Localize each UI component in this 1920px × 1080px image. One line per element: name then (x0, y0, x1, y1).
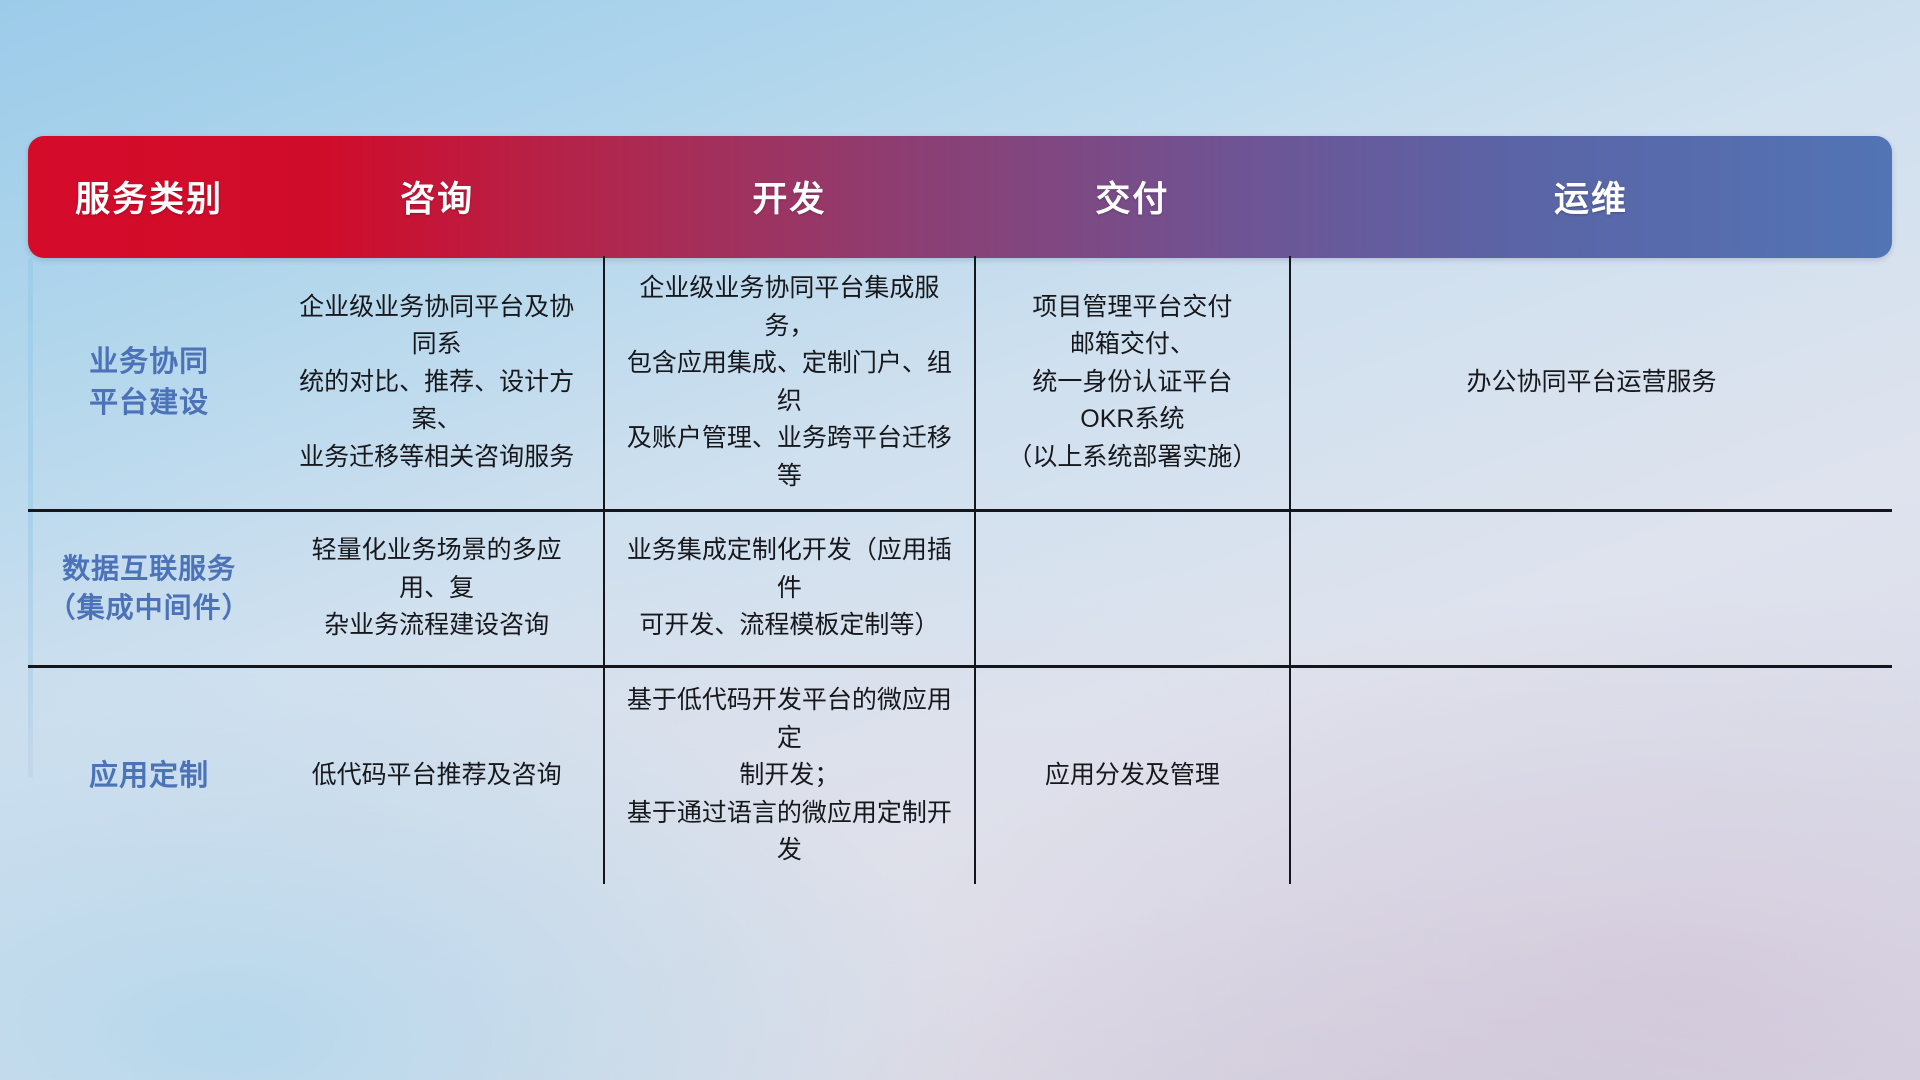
cell-text-line: 及账户管理、业务跨平台迁移等 (623, 420, 956, 495)
row-label-line: 平台建设 (46, 383, 252, 423)
cell-text-line: 包含应用集成、定制门户、组织 (623, 345, 956, 420)
column-header-development[interactable]: 开发 (604, 136, 975, 256)
table-body: 业务协同 平台建设 企业级业务协同平台及协同系 统的对比、推荐、设计方案、 业务… (28, 256, 1892, 884)
cell-text-line: 办公协同平台运营服务 (1309, 364, 1874, 402)
column-header-delivery[interactable]: 交付 (975, 136, 1290, 256)
cell-row2-delivery (975, 511, 1290, 667)
cell-row1-development: 企业级业务协同平台集成服务， 包含应用集成、定制门户、组织 及账户管理、业务跨平… (604, 256, 975, 511)
cell-row2-development: 业务集成定制化开发（应用插件 可开发、流程模板定制等） (604, 511, 975, 667)
cell-text-line: 基于通过语言的微应用定制开发 (623, 795, 956, 870)
column-header-consulting[interactable]: 咨询 (270, 136, 604, 256)
service-matrix-table-wrapper: 服务类别 咨询 开发 交付 运维 业务协同 平台建设 (28, 136, 1892, 884)
cell-text-line: 统的对比、推荐、设计方案、 (288, 364, 585, 439)
cell-text-line: 可开发、流程模板定制等） (623, 607, 956, 645)
row-label-line: 数据互联服务 (46, 550, 252, 589)
slide-canvas: 服务类别 咨询 开发 交付 运维 业务协同 平台建设 (0, 0, 1920, 1080)
cell-row2-operations (1290, 511, 1892, 667)
cell-row1-consulting: 企业级业务协同平台及协同系 统的对比、推荐、设计方案、 业务迁移等相关咨询服务 (270, 256, 604, 511)
cell-text-line: 项目管理平台交付 (994, 289, 1271, 327)
row-label-application-customization: 应用定制 (28, 667, 270, 884)
cell-text-line: 杂业务流程建设咨询 (288, 607, 585, 645)
cell-row1-operations: 办公协同平台运营服务 (1290, 256, 1892, 511)
row-label-line: （集成中间件） (46, 589, 252, 628)
table-header-row-group: 服务类别 咨询 开发 交付 运维 (28, 136, 1892, 256)
cell-row3-delivery: 应用分发及管理 (975, 667, 1290, 884)
cell-row2-consulting: 轻量化业务场景的多应用、复 杂业务流程建设咨询 (270, 511, 604, 667)
cell-text-line: 制开发； (623, 757, 956, 795)
cell-text-line: 基于低代码开发平台的微应用定 (623, 682, 956, 757)
cell-text-line: OKR系统 (994, 401, 1271, 439)
cell-row3-operations (1290, 667, 1892, 884)
cell-text-line: 邮箱交付、 (994, 326, 1271, 364)
cell-text-line: 低代码平台推荐及咨询 (288, 757, 585, 795)
table-row: 应用定制 低代码平台推荐及咨询 基于低代码开发平台的微应用定 制开发； 基于通过… (28, 667, 1892, 884)
cell-text-line: 应用分发及管理 (994, 757, 1271, 795)
cell-text-line: 轻量化业务场景的多应用、复 (288, 532, 585, 607)
table-row: 业务协同 平台建设 企业级业务协同平台及协同系 统的对比、推荐、设计方案、 业务… (28, 256, 1892, 511)
cell-text-line: 业务迁移等相关咨询服务 (288, 439, 585, 477)
table-header-row: 服务类别 咨询 开发 交付 运维 (28, 136, 1892, 256)
column-header-operations[interactable]: 运维 (1290, 136, 1892, 256)
cell-row1-delivery: 项目管理平台交付 邮箱交付、 统一身份认证平台 OKR系统 （以上系统部署实施） (975, 256, 1290, 511)
service-matrix-table: 服务类别 咨询 开发 交付 运维 业务协同 平台建设 (28, 136, 1892, 884)
row-label-business-collaboration-platform: 业务协同 平台建设 (28, 256, 270, 511)
cell-row3-consulting: 低代码平台推荐及咨询 (270, 667, 604, 884)
cell-text-line: 统一身份认证平台 (994, 364, 1271, 402)
row-label-line: 业务协同 (46, 342, 252, 382)
cell-text-line: 业务集成定制化开发（应用插件 (623, 532, 956, 607)
cell-row3-development: 基于低代码开发平台的微应用定 制开发； 基于通过语言的微应用定制开发 (604, 667, 975, 884)
cell-text-line: 企业级业务协同平台及协同系 (288, 289, 585, 364)
column-header-category[interactable]: 服务类别 (28, 136, 270, 256)
row-label-data-interconnection-service: 数据互联服务 （集成中间件） (28, 511, 270, 667)
cell-text-line: （以上系统部署实施） (994, 439, 1271, 477)
table-row: 数据互联服务 （集成中间件） 轻量化业务场景的多应用、复 杂业务流程建设咨询 业… (28, 511, 1892, 667)
cell-text-line: 企业级业务协同平台集成服务， (623, 270, 956, 345)
row-label-line: 应用定制 (46, 756, 252, 796)
